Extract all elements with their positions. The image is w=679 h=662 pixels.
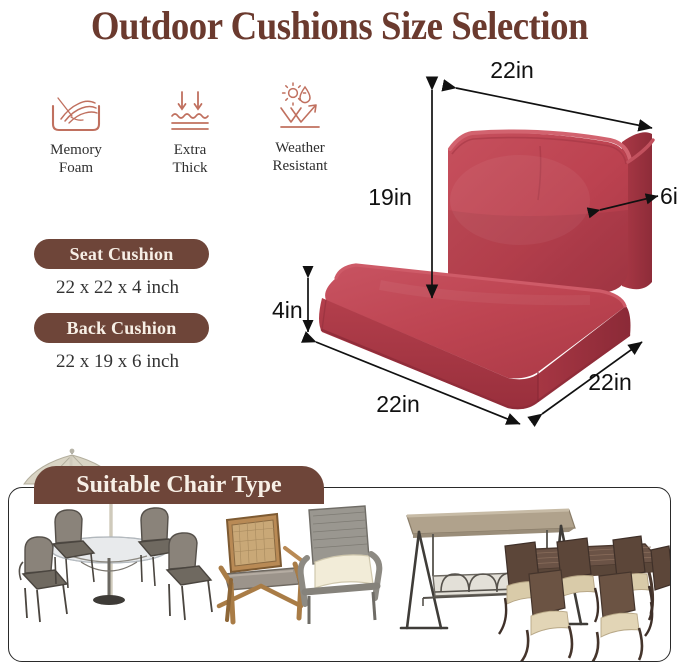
teak-cane-lounge-chair: [219, 514, 301, 622]
status-badge-seat-cushion: Seat Cushion: [34, 239, 209, 269]
wicker-armchair-with-cushion: [301, 506, 380, 624]
feature-label: Memory Foam: [22, 142, 130, 177]
callout-seat-width: 22in: [376, 391, 419, 417]
seat-cushion-dimensions: 22 x 22 x 4 inch: [56, 277, 179, 299]
back-cushion-dimensions: 22 x 19 x 6 inch: [56, 351, 179, 373]
feature-label: Extra Thick: [136, 142, 244, 177]
furniture-illustrations: [9, 488, 671, 662]
memory-foam-icon: [22, 84, 130, 138]
extra-thick-icon: [136, 84, 244, 138]
status-badge-back-cushion: Back Cushion: [34, 313, 209, 343]
callout-seat-depth: 22in: [588, 369, 631, 395]
patio-dining-set-with-umbrella: [19, 488, 212, 622]
page-title: Outdoor Cushions Size Selection: [27, 2, 652, 49]
callout-back-width: 22in: [490, 57, 533, 83]
suitable-chair-type-header: Suitable Chair Type: [34, 466, 324, 504]
callout-back-thickness: 6in: [660, 183, 679, 209]
cushion-product-illustration: 22in 19in 6in 4in 22in 22in: [270, 50, 679, 440]
callout-seat-thickness: 4in: [272, 297, 303, 323]
brown-wicker-dining-set: [499, 536, 671, 662]
callout-back-height: 19in: [368, 184, 411, 210]
feature-extra-thick: Extra Thick: [136, 84, 244, 177]
feature-memory-foam: Memory Foam: [22, 84, 130, 177]
suitable-chair-type-panel: [8, 487, 671, 662]
infographic-page: Outdoor Cushions Size Selection Memory F…: [0, 0, 679, 656]
back-cushion-graphic: [448, 132, 653, 297]
